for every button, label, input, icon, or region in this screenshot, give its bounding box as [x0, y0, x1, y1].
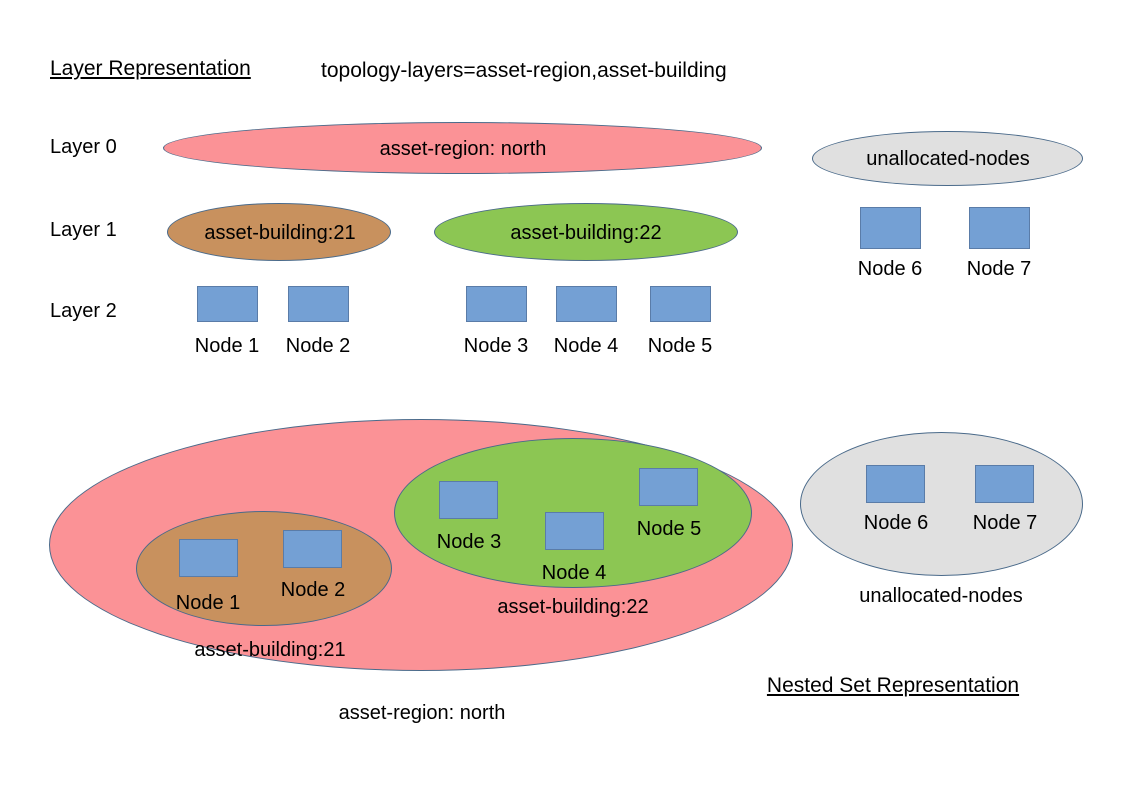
nested-node-1-rect[interactable] — [179, 539, 238, 577]
layer2-node-1-label: Node 1 — [195, 336, 260, 356]
layer-representation-heading: Layer Representation — [50, 58, 251, 79]
nested-asset-building-22-label: asset-building:22 — [497, 597, 648, 617]
nested-node-5-rect[interactable] — [639, 468, 698, 506]
nested-node-2-rect[interactable] — [283, 530, 342, 568]
nested-asset-building-21-label: asset-building:21 — [194, 640, 345, 660]
layer1-asset-building-21-label: asset-building:21 — [204, 223, 355, 243]
layer1-asset-building-22-label: asset-building:22 — [510, 223, 661, 243]
nested-node-4-rect[interactable] — [545, 512, 604, 550]
nested-node-6-label: Node 6 — [864, 513, 929, 533]
nested-asset-region-label: asset-region: north — [339, 703, 506, 723]
layer2-node-2-label: Node 2 — [286, 336, 351, 356]
layer1-node-7-rect[interactable] — [969, 207, 1030, 249]
layer2-node-5-label: Node 5 — [648, 336, 713, 356]
nested-node-7-rect[interactable] — [975, 465, 1034, 503]
layer2-node-4-label: Node 4 — [554, 336, 619, 356]
nested-set-representation-heading: Nested Set Representation — [767, 675, 1019, 696]
nested-node-2-label: Node 2 — [281, 580, 346, 600]
layer-1-label: Layer 1 — [50, 220, 117, 240]
topology-layers-annotation: topology-layers=asset-region,asset-build… — [321, 60, 727, 81]
nested-node-3-rect[interactable] — [439, 481, 498, 519]
nested-unallocated-nodes-ellipse[interactable] — [800, 432, 1083, 576]
nested-node-4-label: Node 4 — [542, 563, 607, 583]
nested-node-5-label: Node 5 — [637, 519, 702, 539]
layer-2-label: Layer 2 — [50, 301, 117, 321]
nested-unallocated-nodes-label: unallocated-nodes — [859, 586, 1022, 606]
layer2-node-5-rect[interactable] — [650, 286, 711, 322]
nested-node-3-label: Node 3 — [437, 532, 502, 552]
layer2-node-2-rect[interactable] — [288, 286, 349, 322]
layer0-unallocated-nodes-label: unallocated-nodes — [866, 149, 1029, 169]
layer2-node-1-rect[interactable] — [197, 286, 258, 322]
nested-asset-building-21-ellipse[interactable] — [136, 511, 392, 626]
layer-0-label: Layer 0 — [50, 137, 117, 157]
layer0-asset-region-label: asset-region: north — [380, 139, 547, 159]
layer1-node-6-rect[interactable] — [860, 207, 921, 249]
nested-node-7-label: Node 7 — [973, 513, 1038, 533]
layer1-node-7-label: Node 7 — [967, 259, 1032, 279]
nested-node-6-rect[interactable] — [866, 465, 925, 503]
layer2-node-3-label: Node 3 — [464, 336, 529, 356]
layer2-node-3-rect[interactable] — [466, 286, 527, 322]
layer1-node-6-label: Node 6 — [858, 259, 923, 279]
nested-node-1-label: Node 1 — [176, 593, 241, 613]
layer2-node-4-rect[interactable] — [556, 286, 617, 322]
diagram-canvas: Layer Representation topology-layers=ass… — [0, 0, 1123, 794]
